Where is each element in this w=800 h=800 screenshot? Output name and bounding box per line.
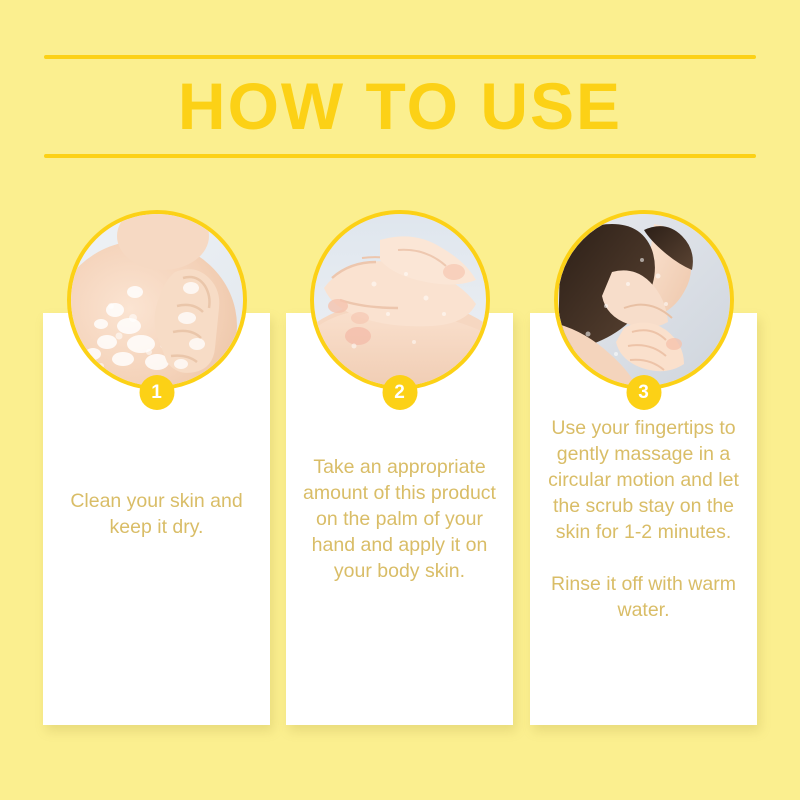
woman-shower-illustration <box>558 214 730 386</box>
hands-with-product-photo <box>314 214 486 386</box>
step-3-text-wrap: Use your fingertips to gently massage in… <box>538 415 749 623</box>
step-3-paragraph-2: Rinse it off with warm water. <box>538 571 749 623</box>
step-card-1: Clean your skin and keep it dry. <box>43 210 270 740</box>
step-1-photo-frame <box>67 210 247 390</box>
step-2-paragraph-1: Take an appropriate amount of this produ… <box>294 454 505 584</box>
step-2-text-wrap: Take an appropriate amount of this produ… <box>294 454 505 584</box>
title-rule-top <box>44 55 756 59</box>
step-2-photo-frame <box>310 210 490 390</box>
step-2-number-badge: 2 <box>382 375 417 410</box>
step-3-paragraph-1: Use your fingertips to gently massage in… <box>538 415 749 545</box>
step-1-text-wrap: Clean your skin and keep it dry. <box>51 488 262 550</box>
soapy-shoulder-illustration <box>71 214 243 386</box>
step-1-number-badge: 1 <box>139 375 174 410</box>
page-title: HOW TO USE <box>44 63 756 149</box>
step-card-3: Use your fingertips to gently massage in… <box>530 210 757 740</box>
soapy-shoulder-photo <box>71 214 243 386</box>
step-3-photo-frame <box>554 210 734 390</box>
page-header: HOW TO USE <box>44 55 756 160</box>
step-1-paragraph-1: Clean your skin and keep it dry. <box>51 488 262 540</box>
woman-massaging-neck-photo <box>558 214 730 386</box>
hands-illustration <box>314 214 486 386</box>
title-rule-bottom <box>44 154 756 158</box>
step-3-number-badge: 3 <box>626 375 661 410</box>
step-card-2: Take an appropriate amount of this produ… <box>286 210 513 740</box>
steps-container: Clean your skin and keep it dry. <box>0 210 800 770</box>
